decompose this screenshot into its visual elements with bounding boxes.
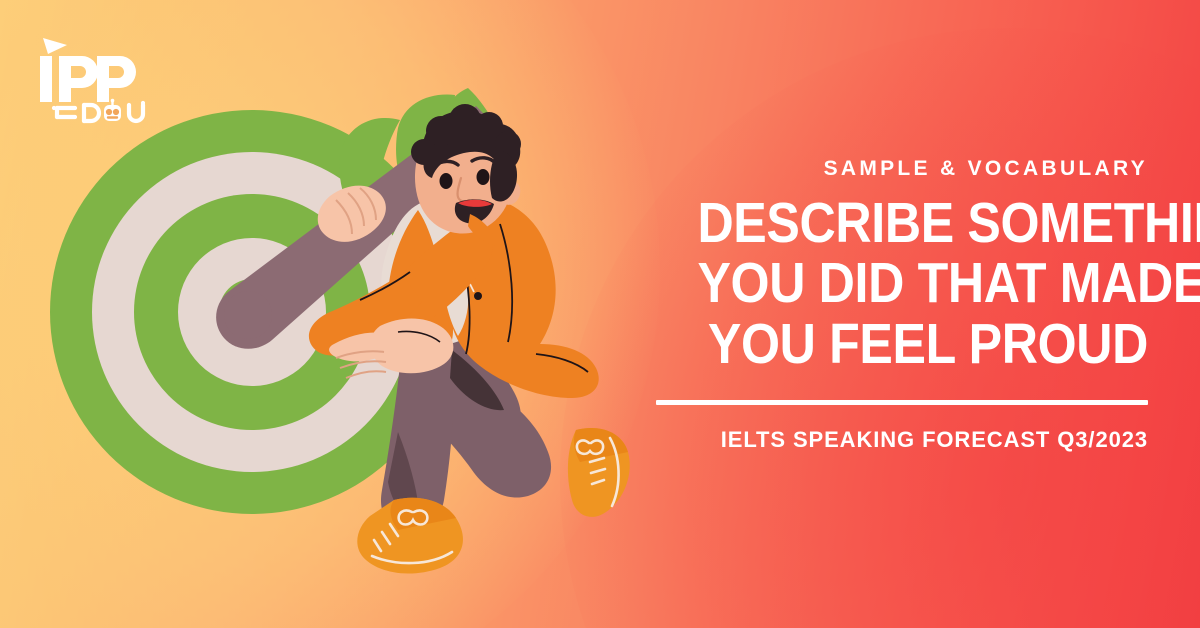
logo-edu-wordmark [52,99,145,121]
copy-block: SAMPLE & VOCABULARY DESCRIBE SOMETHING Y… [636,158,1148,451]
shoe-back [568,428,630,517]
divider [656,400,1148,405]
headline-line-3: YOU FEEL PROUD [697,314,1148,374]
promo-banner: SAMPLE & VOCABULARY DESCRIBE SOMETHING Y… [0,0,1200,628]
paper-plane-icon [43,38,67,54]
headline-line-1: DESCRIBE SOMETHING [697,193,1148,253]
eyebrow-label: SAMPLE & VOCABULARY [636,158,1148,179]
page-title: DESCRIBE SOMETHING YOU DID THAT MADE YOU… [697,193,1148,374]
shoe-front [357,498,463,574]
subtitle-label: IELTS SPEAKING FORECAST Q3/2023 [636,429,1148,451]
logo-ipp-edu[interactable] [34,32,164,128]
headline-line-2: YOU DID THAT MADE [697,253,1148,313]
